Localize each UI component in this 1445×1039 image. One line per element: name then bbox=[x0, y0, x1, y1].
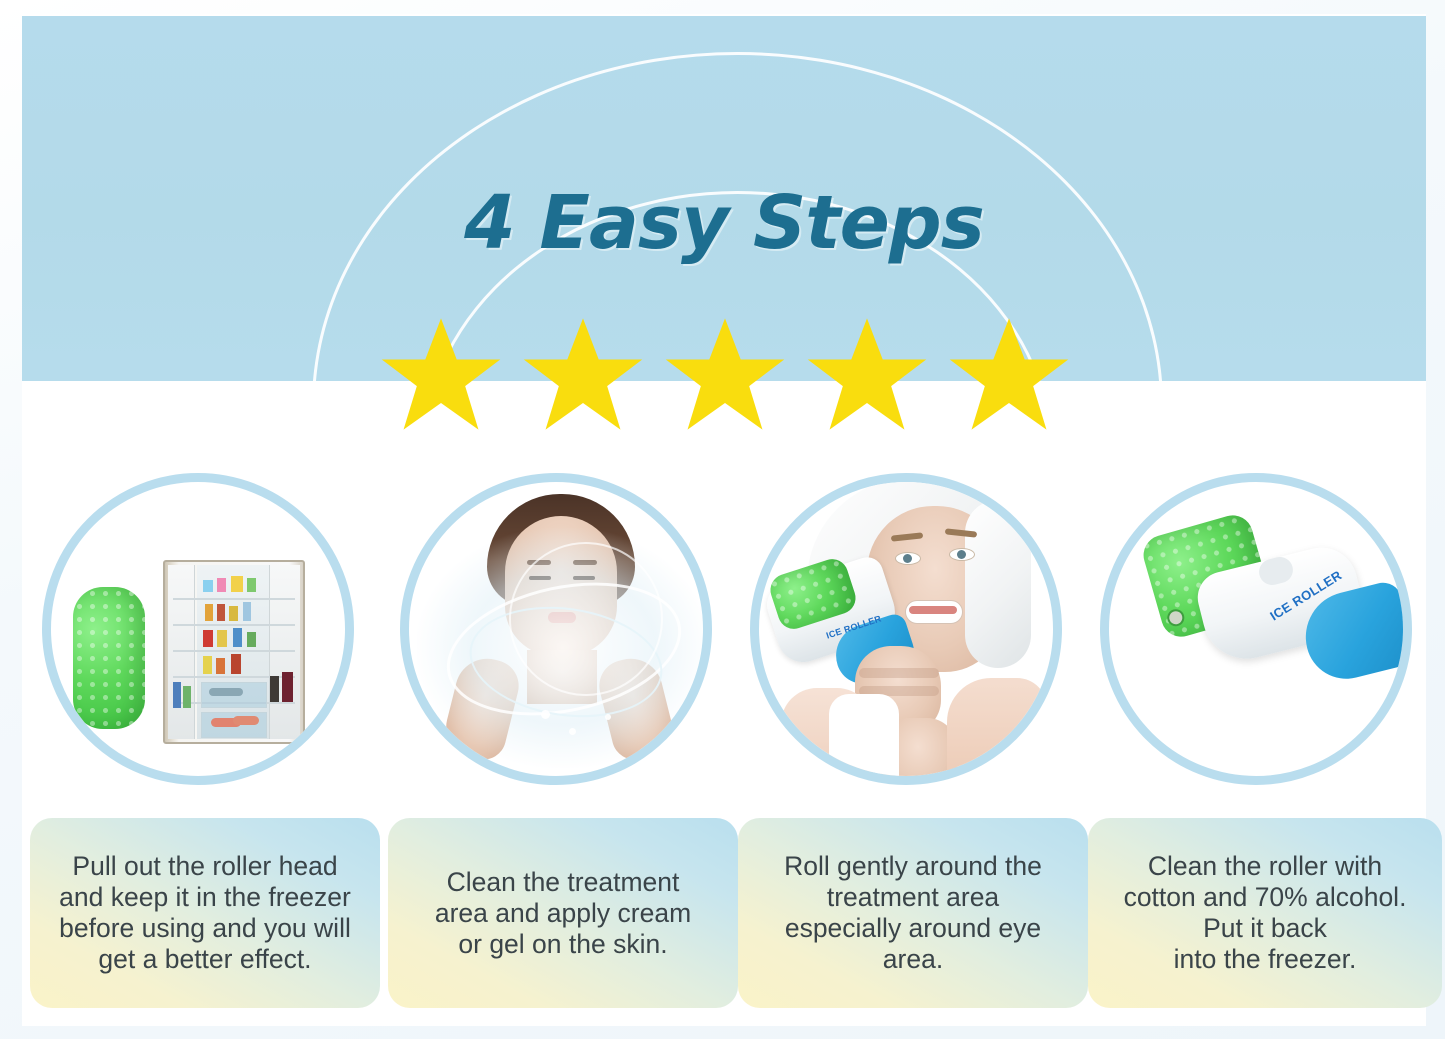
step-caption-3: Roll gently around the treatment area es… bbox=[738, 818, 1088, 1008]
caption-line: especially around eye bbox=[784, 913, 1042, 944]
caption-line: Put it back bbox=[1124, 913, 1407, 944]
step-image-ice-roller-disassembled: ICE ROLLER bbox=[1100, 473, 1412, 785]
step-caption-2: Clean the treatment area and apply cream… bbox=[388, 818, 738, 1008]
rating-star-icon bbox=[522, 316, 644, 432]
infographic-page: 4 Easy Steps bbox=[0, 0, 1445, 1039]
caption-line: Clean the treatment bbox=[435, 867, 691, 898]
illustration-rolling-scene: ICE ROLLER bbox=[759, 482, 1053, 776]
step-image-woman-using-ice-roller: ICE ROLLER bbox=[750, 473, 1062, 785]
illustration-fridge-scene bbox=[51, 482, 345, 776]
rating-star-icon bbox=[664, 316, 786, 432]
caption-line: Clean the roller with bbox=[1124, 851, 1407, 882]
caption-line: into the freezer. bbox=[1124, 944, 1407, 975]
rating-star-icon bbox=[948, 316, 1070, 432]
step-caption-1: Pull out the roller head and keep it in … bbox=[30, 818, 380, 1008]
page-title: 4 Easy Steps bbox=[22, 180, 1426, 266]
star-rating bbox=[380, 316, 1070, 426]
illustration-device-parts: ICE ROLLER bbox=[1109, 482, 1403, 776]
step-image-roller-head-and-refrigerator bbox=[42, 473, 354, 785]
roller-texture bbox=[73, 587, 145, 729]
rating-star-icon bbox=[380, 316, 502, 432]
caption-line: Roll gently around the bbox=[784, 851, 1042, 882]
caption-line: treatment area bbox=[784, 882, 1042, 913]
step-caption-row: Pull out the roller head and keep it in … bbox=[22, 818, 1426, 1010]
caption-line: Pull out the roller head bbox=[59, 851, 351, 882]
step-image-row: ICE ROLLER ICE ROLLER bbox=[22, 473, 1426, 803]
caption-line: or gel on the skin. bbox=[435, 929, 691, 960]
caption-line: cotton and 70% alcohol. bbox=[1124, 882, 1407, 913]
roller-head-graphic bbox=[73, 587, 145, 729]
caption-line: area and apply cream bbox=[435, 898, 691, 929]
step-caption-4: Clean the roller with cotton and 70% alc… bbox=[1088, 818, 1442, 1008]
caption-line: area. bbox=[784, 944, 1042, 975]
caption-line: before using and you will bbox=[59, 913, 351, 944]
rating-star-icon bbox=[806, 316, 928, 432]
refrigerator-graphic bbox=[163, 560, 305, 744]
caption-line: get a better effect. bbox=[59, 944, 351, 975]
step-image-woman-washing-face bbox=[400, 473, 712, 785]
illustration-face-wash-scene bbox=[409, 482, 703, 776]
caption-line: and keep it in the freezer bbox=[59, 882, 351, 913]
